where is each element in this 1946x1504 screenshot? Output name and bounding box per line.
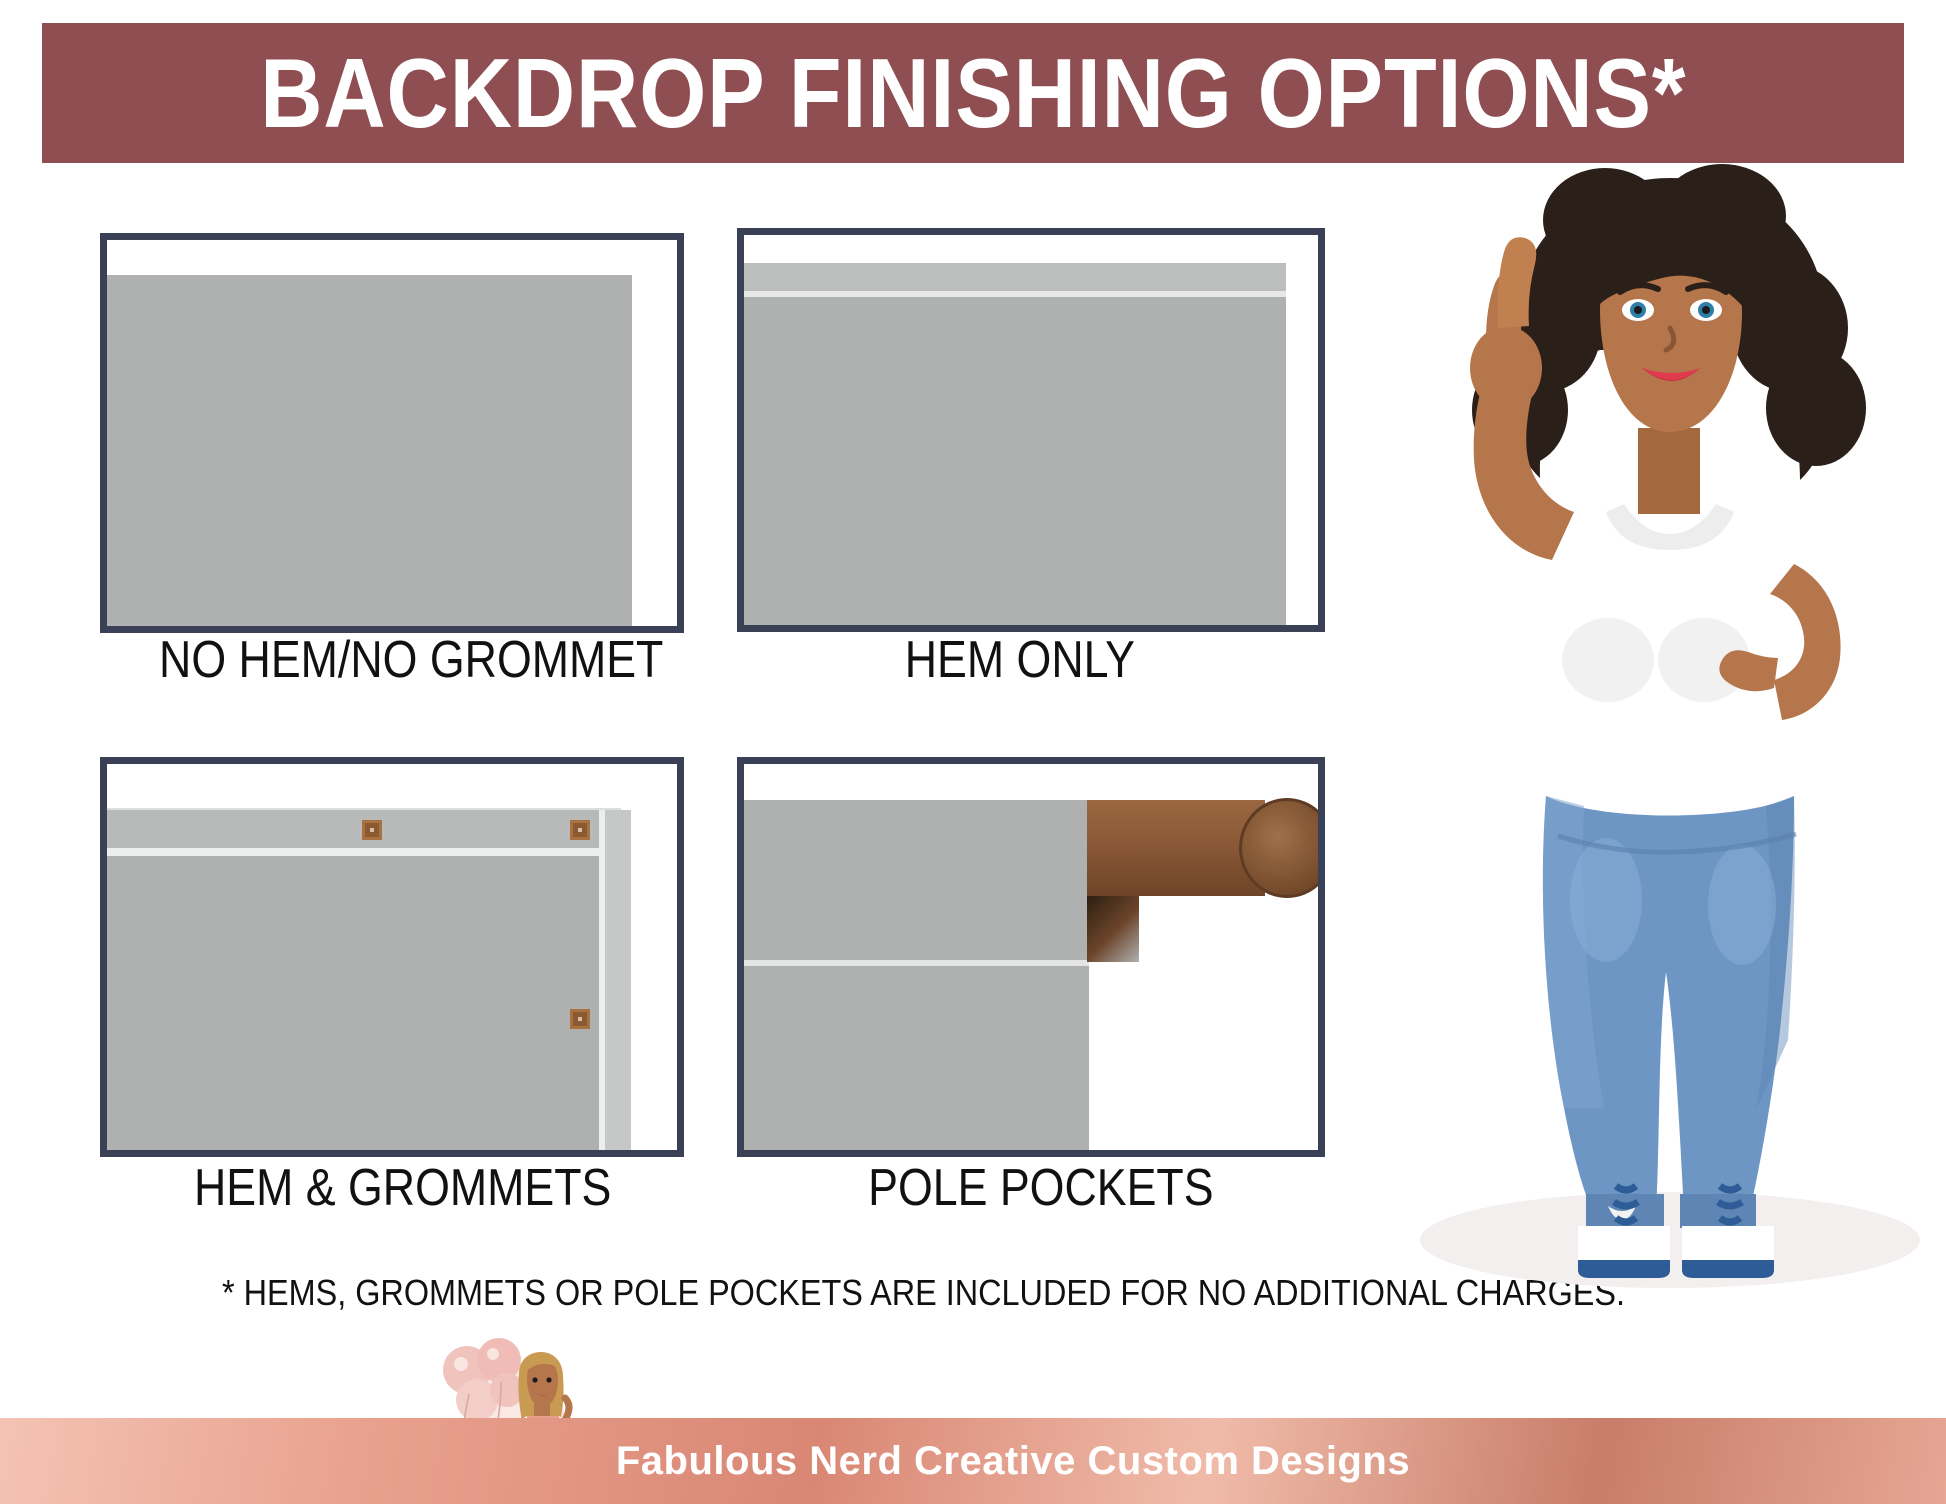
- page-title: BACKDROP FINISHING OPTIONS*: [260, 44, 1686, 142]
- fabric-sheet: [107, 275, 632, 626]
- grommet-icon: [570, 820, 590, 840]
- hem-stitch-line-bottom: [107, 848, 621, 856]
- fabric-sheet: [107, 810, 621, 1150]
- header-banner: BACKDROP FINISHING OPTIONS*: [42, 23, 1904, 163]
- pole-pocket-fold-shadow: [1087, 892, 1139, 962]
- panel-inner: [107, 240, 677, 626]
- hem-stitch-line: [744, 291, 1286, 297]
- poster-canvas: BACKDROP FINISHING OPTIONS* NO HEM/NO GR…: [0, 0, 1946, 1504]
- pointing-woman-illustration: [1370, 160, 1930, 1300]
- panel-label-hem-only: HEM ONLY: [905, 630, 1135, 690]
- grommet-icon: [570, 1009, 590, 1029]
- footer-bar: Fabulous Nerd Creative Custom Designs: [0, 1418, 1946, 1504]
- brand-name: Fabulous Nerd Creative Custom Designs: [0, 1418, 1946, 1504]
- grommet-icon: [362, 820, 382, 840]
- panel-pole-pockets: [737, 757, 1325, 1157]
- panel-hem-and-grommets: [100, 757, 684, 1157]
- panel-inner: [744, 764, 1318, 1150]
- panel-label-hem-and-grommets: HEM & GROMMETS: [194, 1158, 611, 1218]
- vertical-hem-stitch-line: [599, 810, 605, 1150]
- hem-strip: [744, 263, 1286, 291]
- fabric-sheet-lower: [744, 966, 1089, 1150]
- fabric-sheet-upper: [744, 800, 1089, 960]
- panel-hem-only: [737, 228, 1325, 632]
- panel-label-no-hem-no-grommet: NO HEM/NO GROMMET: [159, 630, 663, 690]
- panel-label-pole-pockets: POLE POCKETS: [868, 1158, 1213, 1218]
- vertical-hem-band: [605, 810, 631, 1150]
- panel-no-hem-no-grommet: [100, 233, 684, 633]
- fabric-sheet: [744, 263, 1286, 625]
- panel-inner: [744, 235, 1318, 625]
- panel-inner: [107, 764, 677, 1150]
